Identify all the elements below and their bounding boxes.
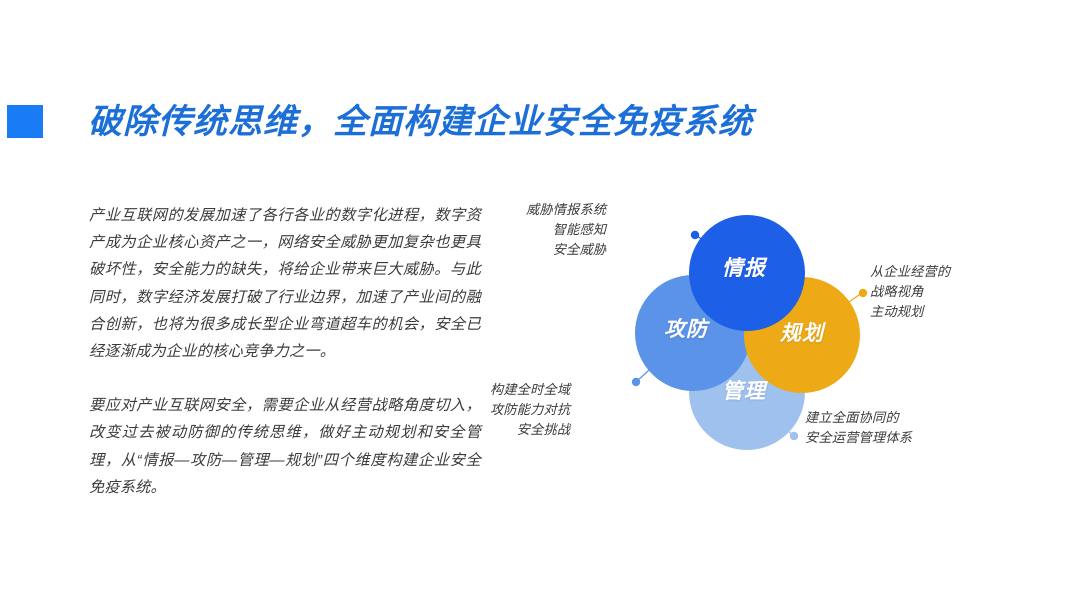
callout-intel-line-3: 安全威胁 bbox=[526, 240, 606, 260]
venn-label-manage: 管理 bbox=[722, 375, 766, 405]
accent-square-decoration bbox=[7, 105, 43, 138]
page-title: 破除传统思维，全面构建企业安全免疫系统 bbox=[88, 100, 753, 144]
venn-label-planning: 规划 bbox=[780, 317, 824, 347]
callout-dot-manage bbox=[790, 432, 798, 440]
slide-header: 破除传统思维，全面构建企业安全免疫系统 bbox=[0, 100, 1080, 160]
venn-label-offense: 攻防 bbox=[664, 313, 708, 343]
callout-text-manage: 建立全面协同的 安全运营管理体系 bbox=[805, 408, 912, 448]
body-text-column: 产业互联网的发展加速了各行各业的数字化进程，数字资产成为企业核心资产之一，网络安… bbox=[89, 202, 481, 501]
paragraph-1: 产业互联网的发展加速了各行各业的数字化进程，数字资产成为企业核心资产之一，网络安… bbox=[89, 202, 481, 365]
callout-intel-line-2: 智能感知 bbox=[526, 220, 606, 240]
venn-diagram-svg bbox=[540, 190, 1000, 480]
callout-offense-line-1: 构建全时全域 bbox=[490, 380, 570, 400]
callout-manage-line-2: 安全运营管理体系 bbox=[805, 428, 912, 448]
callout-text-offense: 构建全时全域 攻防能力对抗 安全挑战 bbox=[490, 380, 570, 440]
callout-planning-line-1: 从企业经营的 bbox=[870, 262, 950, 282]
callout-manage-line-1: 建立全面协同的 bbox=[805, 408, 912, 428]
callout-planning-line-3: 主动规划 bbox=[870, 302, 950, 322]
callout-dot-offense bbox=[632, 378, 640, 386]
venn-label-intel: 情报 bbox=[722, 252, 766, 282]
callout-text-planning: 从企业经营的 战略视角 主动规划 bbox=[870, 262, 950, 322]
callout-text-intel: 威胁情报系统 智能感知 安全威胁 bbox=[526, 200, 606, 260]
paragraph-2: 要应对产业互联网安全，需要企业从经营战略角度切入，改变过去被动防御的传统思维，做… bbox=[89, 392, 481, 501]
callout-intel-line-1: 威胁情报系统 bbox=[526, 200, 606, 220]
callout-offense-line-2: 攻防能力对抗 bbox=[490, 400, 570, 420]
callout-dot-planning bbox=[859, 289, 867, 297]
venn-diagram: 情报 攻防 规划 管理 威胁情报系统 智能感知 安全威胁 从企业经营的 战略视角… bbox=[540, 190, 1000, 480]
callout-offense-line-3: 安全挑战 bbox=[490, 420, 570, 440]
slide-canvas: 破除传统思维，全面构建企业安全免疫系统 产业互联网的发展加速了各行各业的数字化进… bbox=[0, 0, 1080, 607]
callout-dot-intel bbox=[691, 231, 699, 239]
callout-planning-line-2: 战略视角 bbox=[870, 282, 950, 302]
